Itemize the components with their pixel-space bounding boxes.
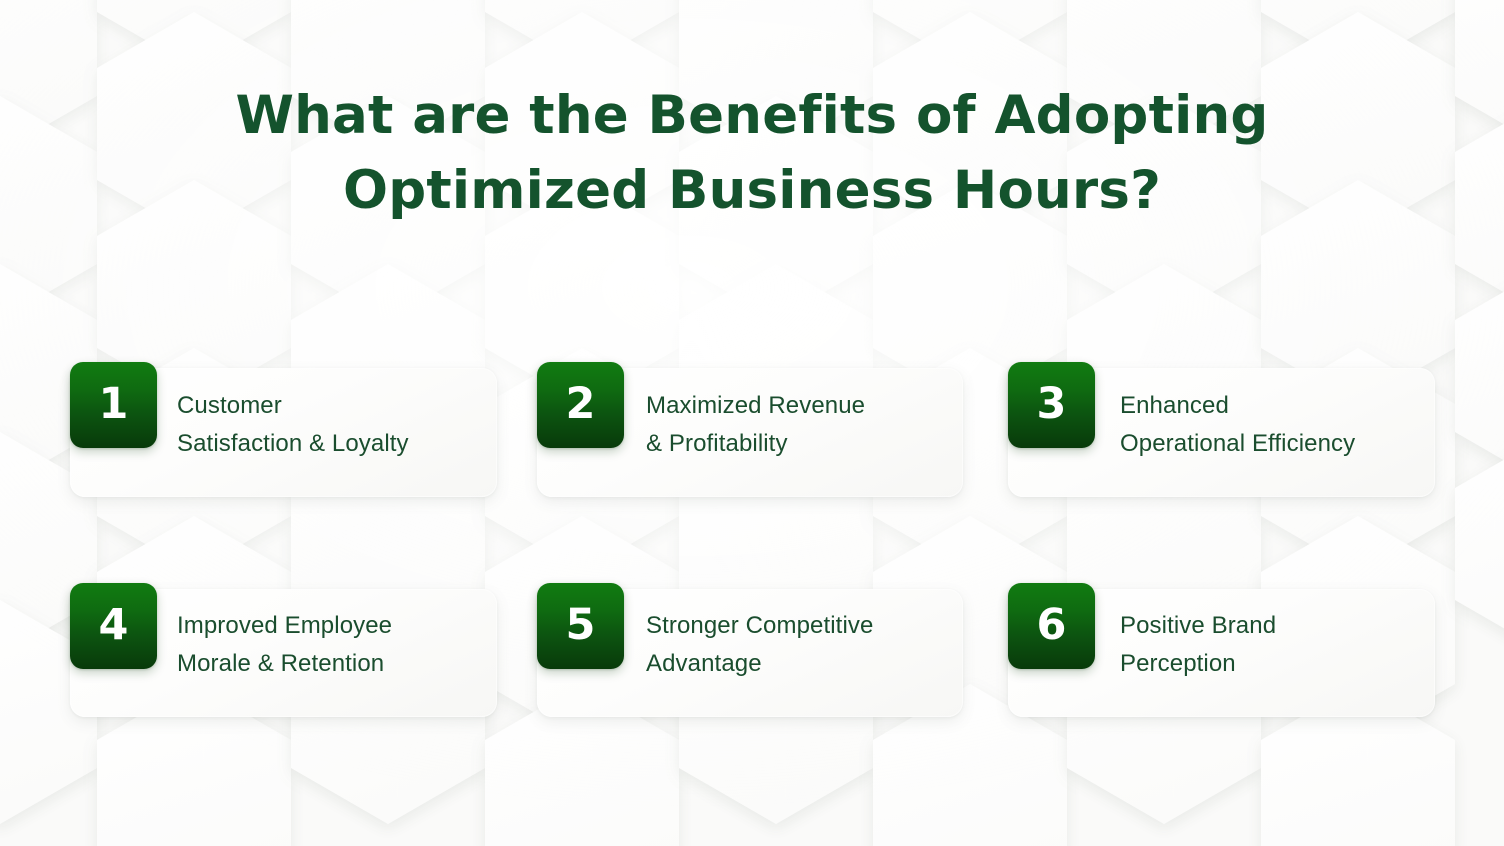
benefit-label-1: Customer Satisfaction & Loyalty <box>177 387 487 463</box>
benefit-number-4: 4 <box>99 604 129 647</box>
benefit-label-5: Stronger Competitive Advantage <box>646 607 956 683</box>
benefit-badge-5: 5 <box>537 583 624 669</box>
benefit-badge-4: 4 <box>70 583 157 669</box>
benefit-badge-2: 2 <box>537 362 624 448</box>
benefit-badge-6: 6 <box>1008 583 1095 669</box>
page-title: What are the Benefits of Adopting Optimi… <box>0 78 1504 228</box>
page-title-line-2: Optimized Business Hours? <box>0 153 1504 228</box>
benefit-label-3: Enhanced Operational Efficiency <box>1120 387 1432 463</box>
page-title-line-1: What are the Benefits of Adopting <box>0 78 1504 153</box>
slide-stage: What are the Benefits of Adopting Optimi… <box>0 0 1504 846</box>
benefit-number-1: 1 <box>99 383 129 426</box>
benefit-number-2: 2 <box>566 383 596 426</box>
benefit-number-3: 3 <box>1037 383 1067 426</box>
benefit-label-2: Maximized Revenue & Profitability <box>646 387 956 463</box>
benefit-badge-3: 3 <box>1008 362 1095 448</box>
benefit-badge-1: 1 <box>70 362 157 448</box>
benefit-number-6: 6 <box>1037 604 1067 647</box>
benefit-label-6: Positive Brand Perception <box>1120 607 1432 683</box>
benefit-number-5: 5 <box>566 604 596 647</box>
benefit-label-4: Improved Employee Morale & Retention <box>177 607 487 683</box>
